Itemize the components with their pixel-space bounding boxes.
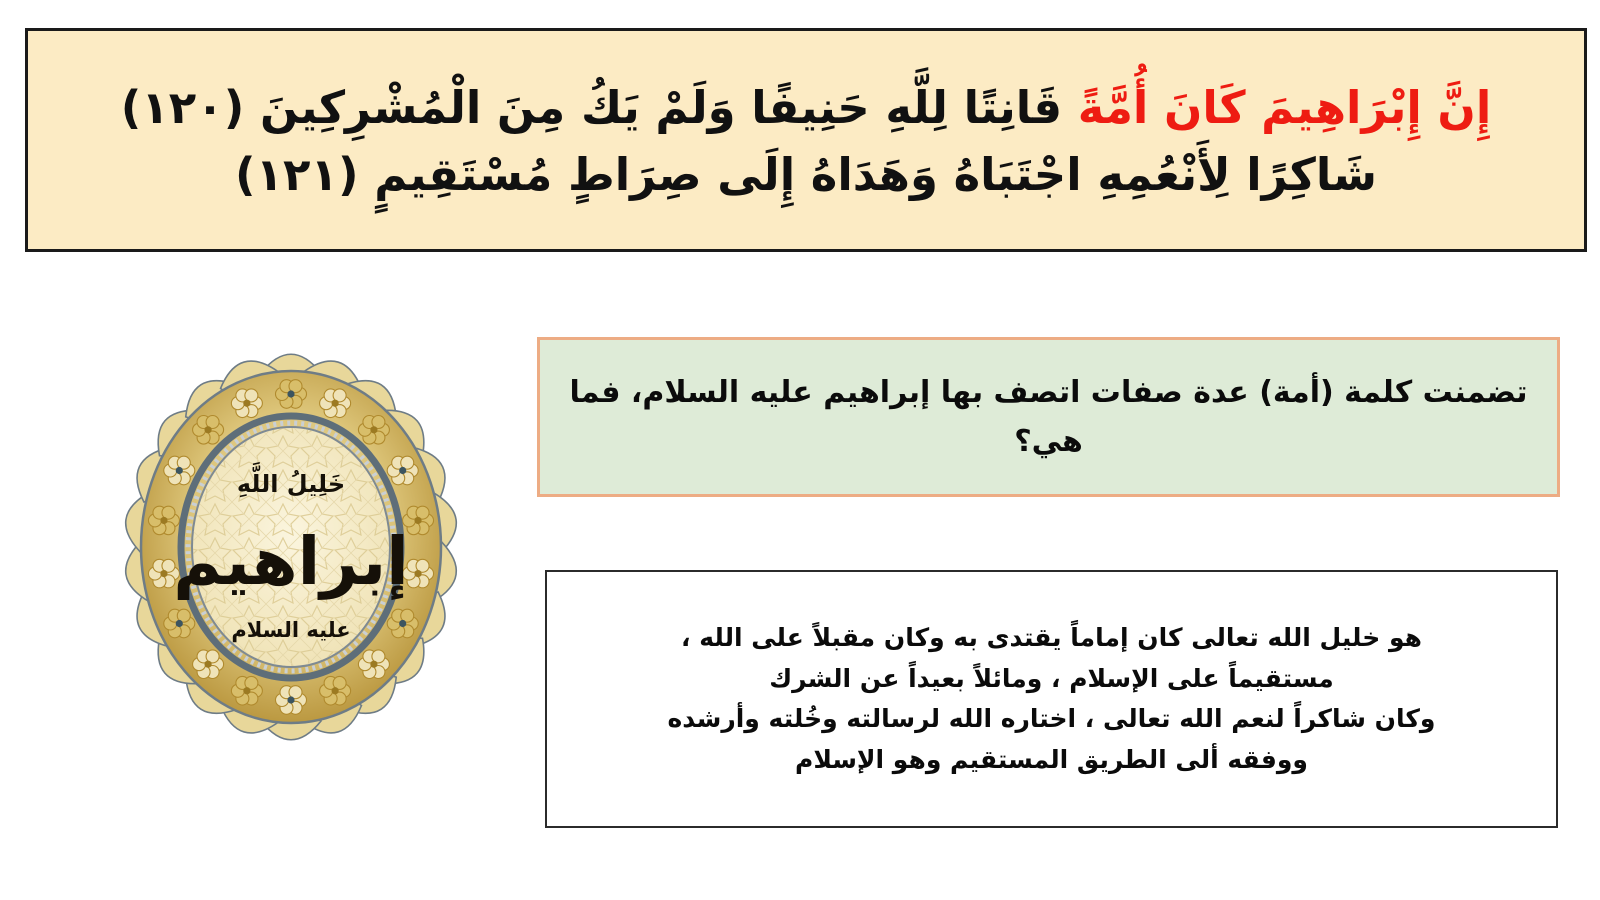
answer-line: وكان شاكراً لنعم الله تعالى ، اختاره الل…	[668, 699, 1436, 740]
answer-box: هو خليل الله تعالى كان إماماً يقتدى به و…	[545, 570, 1558, 828]
quran-verse-banner: إِنَّ إِبْرَاهِيمَ كَانَ أُمَّةً قَانِتً…	[25, 28, 1587, 252]
medallion-rosette	[387, 609, 418, 638]
answer-line: مستقيماً على الإسلام ، ومائلاً بعيداً عن…	[769, 659, 1333, 700]
ibrahim-calligraphy-medallion: خَلِيلُ اللَّهِ إبراهيم عليه السلام	[96, 332, 486, 762]
medallion-rosette	[387, 456, 418, 485]
verse-line-1: إِنَّ إِبْرَاهِيمَ كَانَ أُمَّةً قَانِتً…	[121, 73, 1492, 143]
medallion-rosette	[276, 686, 307, 715]
medallion-name-text: إبراهيم	[173, 523, 409, 601]
medallion-rosette	[164, 456, 195, 485]
medallion-rosette	[193, 416, 224, 445]
medallion-svg: خَلِيلُ اللَّهِ إبراهيم عليه السلام	[96, 332, 486, 762]
medallion-rosette	[320, 676, 351, 705]
verse-line-1-rest: قَانِتًا لِلَّهِ حَنِيفًا وَلَمْ يَكُ مِ…	[121, 81, 1078, 134]
medallion-rosette	[231, 389, 262, 418]
verse-line-2: شَاكِرًا لِأَنْعُمِهِ اجْتَبَاهُ وَهَدَا…	[235, 142, 1377, 207]
question-text: تضمنت كلمة (أمة) عدة صفات اتصف بها إبراه…	[566, 368, 1531, 467]
answer-line: هو خليل الله تعالى كان إماماً يقتدى به و…	[681, 618, 1422, 659]
medallion-rosette	[358, 650, 389, 679]
answer-line: ووفقه ألى الطريق المستقيم وهو الإسلام	[795, 740, 1308, 781]
medallion-rosette	[320, 389, 351, 418]
medallion-rosette	[276, 380, 307, 409]
medallion-rosette	[231, 676, 262, 705]
medallion-title-bottom: عليه السلام	[231, 618, 350, 642]
question-callout: تضمنت كلمة (أمة) عدة صفات اتصف بها إبراه…	[537, 337, 1560, 497]
verse-highlighted-phrase: إِنَّ إِبْرَاهِيمَ كَانَ أُمَّةً	[1078, 81, 1491, 134]
medallion-rosette	[193, 650, 224, 679]
medallion-rosette	[164, 609, 195, 638]
medallion-rosette	[358, 416, 389, 445]
